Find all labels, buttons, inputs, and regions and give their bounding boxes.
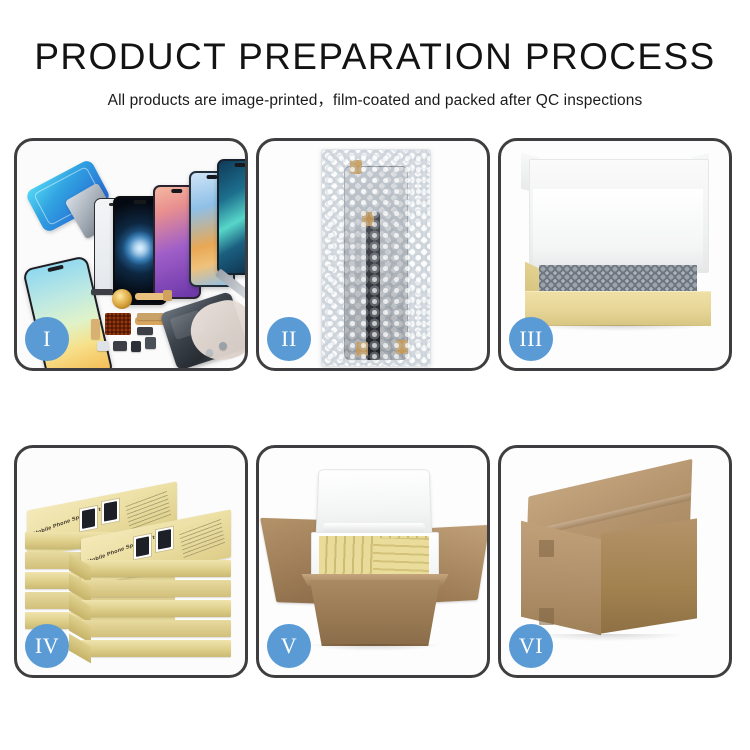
bubble-texture-overlay [322, 150, 430, 366]
phone-teal [217, 159, 245, 275]
small-part-1 [97, 341, 109, 351]
box-window-2 [101, 498, 120, 526]
box-window-1 [79, 505, 98, 533]
tape-patch-bottom [539, 608, 554, 625]
drop-shadow [531, 325, 707, 331]
speaker-part [91, 289, 113, 295]
carton-front-panel [301, 580, 449, 646]
box-front-panel-yellow [525, 291, 711, 326]
copper-mesh-part [105, 313, 131, 335]
box-slab-f1 [81, 560, 231, 577]
step-badge-4: IV [25, 624, 69, 668]
small-part-2 [113, 341, 127, 351]
drop-shadow [309, 644, 441, 651]
page-title: PRODUCT PREPARATION PROCESS [0, 38, 750, 77]
process-step-grid: I II [14, 138, 736, 678]
carton-right-face [601, 518, 697, 633]
step-badge-6: VI [509, 624, 553, 668]
step-badge-2: II [267, 317, 311, 361]
vibration-motor-part [112, 289, 132, 309]
box-window-3 [133, 533, 152, 561]
small-part-4 [145, 337, 156, 349]
box-slab-f2 [81, 580, 231, 597]
screw-part [219, 342, 227, 350]
styrofoam-lid [316, 469, 433, 538]
yellow-boxes-inside [319, 536, 429, 578]
foam-sheet [533, 189, 703, 267]
drop-shadow [533, 634, 683, 641]
step-badge-1: I [25, 317, 69, 361]
step-badge-3: III [509, 317, 553, 361]
bubble-wrap-bag [321, 149, 431, 367]
box-slab-f3 [81, 600, 231, 617]
carton-left-face [521, 521, 601, 635]
process-step-4: Mobile Phone Spare Parts Mobile Phone Sp… [14, 445, 248, 678]
screw-part-2 [206, 349, 213, 356]
box-slab-f5 [81, 640, 231, 657]
process-step-6: VI [498, 445, 732, 678]
box-slab-f4 [81, 620, 231, 637]
small-part-5 [137, 327, 153, 335]
box-window-4 [155, 526, 174, 554]
flex-cable-3 [91, 319, 100, 339]
process-step-5: V [256, 445, 490, 678]
flex-cable-1 [135, 293, 169, 300]
box-printed-text-lines-front [179, 516, 225, 558]
step-badge-5: V [267, 624, 311, 668]
header: PRODUCT PREPARATION PROCESS All products… [0, 0, 750, 110]
process-step-2: II [256, 138, 490, 371]
tape-patch-top [539, 540, 554, 557]
product-preparation-infographic: PRODUCT PREPARATION PROCESS All products… [0, 0, 750, 750]
page-subtitle: All products are image-printed，film-coat… [0, 88, 750, 110]
process-step-1: I [14, 138, 248, 371]
small-part-3 [131, 341, 141, 352]
process-step-3: III [498, 138, 732, 371]
